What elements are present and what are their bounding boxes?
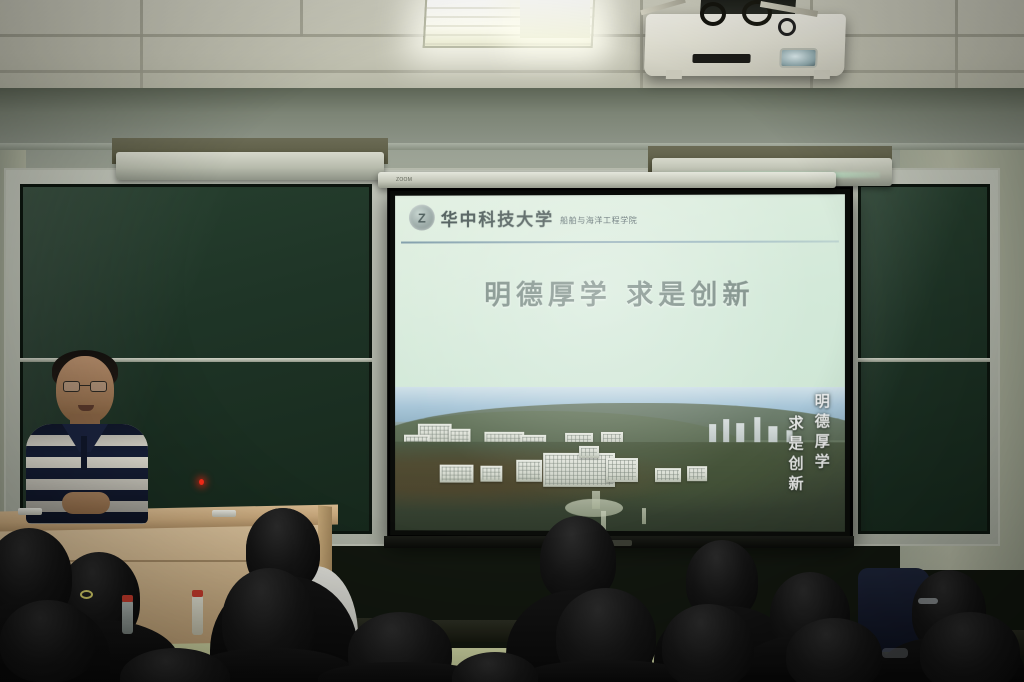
slide-header: Z 华中科技大学 船舶与海洋工程学院 [395, 194, 845, 239]
lectern-clip-2 [212, 510, 236, 517]
photo-calligraphy: 明德厚学 求是创新 [785, 393, 832, 495]
college-name: 船舶与海洋工程学院 [560, 208, 637, 225]
presenter-placket [81, 436, 87, 470]
lecture-hall-scene: ZOOM Z 华中科技大学 船舶与海洋工程学院 明德厚学 求是创新 [0, 0, 1024, 682]
water-bottle-2 [122, 600, 133, 634]
screen-roller-label: ZOOM [396, 177, 412, 183]
projector-vent [692, 54, 750, 63]
calligraphy-column-1: 明德厚学 [812, 393, 833, 495]
slide-title: 明德厚学 求是创新 [395, 273, 845, 313]
glasses-icon [63, 381, 107, 392]
laser-pointer-dot [199, 479, 204, 485]
projector-connector [778, 18, 796, 36]
water-bottle-highlight [882, 648, 908, 658]
bottle-cap-2 [122, 595, 133, 602]
presentation-slide: Z 华中科技大学 船舶与海洋工程学院 明德厚学 求是创新 [395, 194, 845, 532]
projection-screen: Z 华中科技大学 船舶与海洋工程学院 明德厚学 求是创新 [387, 186, 853, 540]
bottle-cap-1 [192, 590, 203, 597]
audience-head [0, 600, 96, 682]
water-bottle-1 [192, 595, 203, 635]
ceiling-light-glow [520, 0, 590, 38]
lectern-clip-1 [18, 508, 42, 515]
ceiling-projector [644, 14, 846, 76]
calligraphy-column-2: 求是创新 [785, 415, 806, 495]
audience-head [662, 604, 754, 682]
projector-lens-icon [779, 48, 818, 68]
screen-roller-housing[interactable]: ZOOM [378, 172, 836, 188]
projector-cable [700, 2, 726, 26]
audience-head [920, 612, 1020, 682]
hair-clip-icon [80, 590, 93, 599]
presenter-hands [62, 492, 110, 514]
university-logo-icon: Z [409, 205, 435, 231]
eyeglass-glint-icon [918, 598, 938, 604]
university-name: 华中科技大学 [441, 205, 554, 230]
header-divider [401, 240, 839, 243]
photo-tree-mass [395, 441, 845, 531]
campus-photo: 明德厚学 求是创新 [395, 387, 845, 532]
audience-head [786, 618, 882, 682]
blackboard-divider-right [858, 358, 990, 362]
board-rail-left [116, 152, 384, 180]
